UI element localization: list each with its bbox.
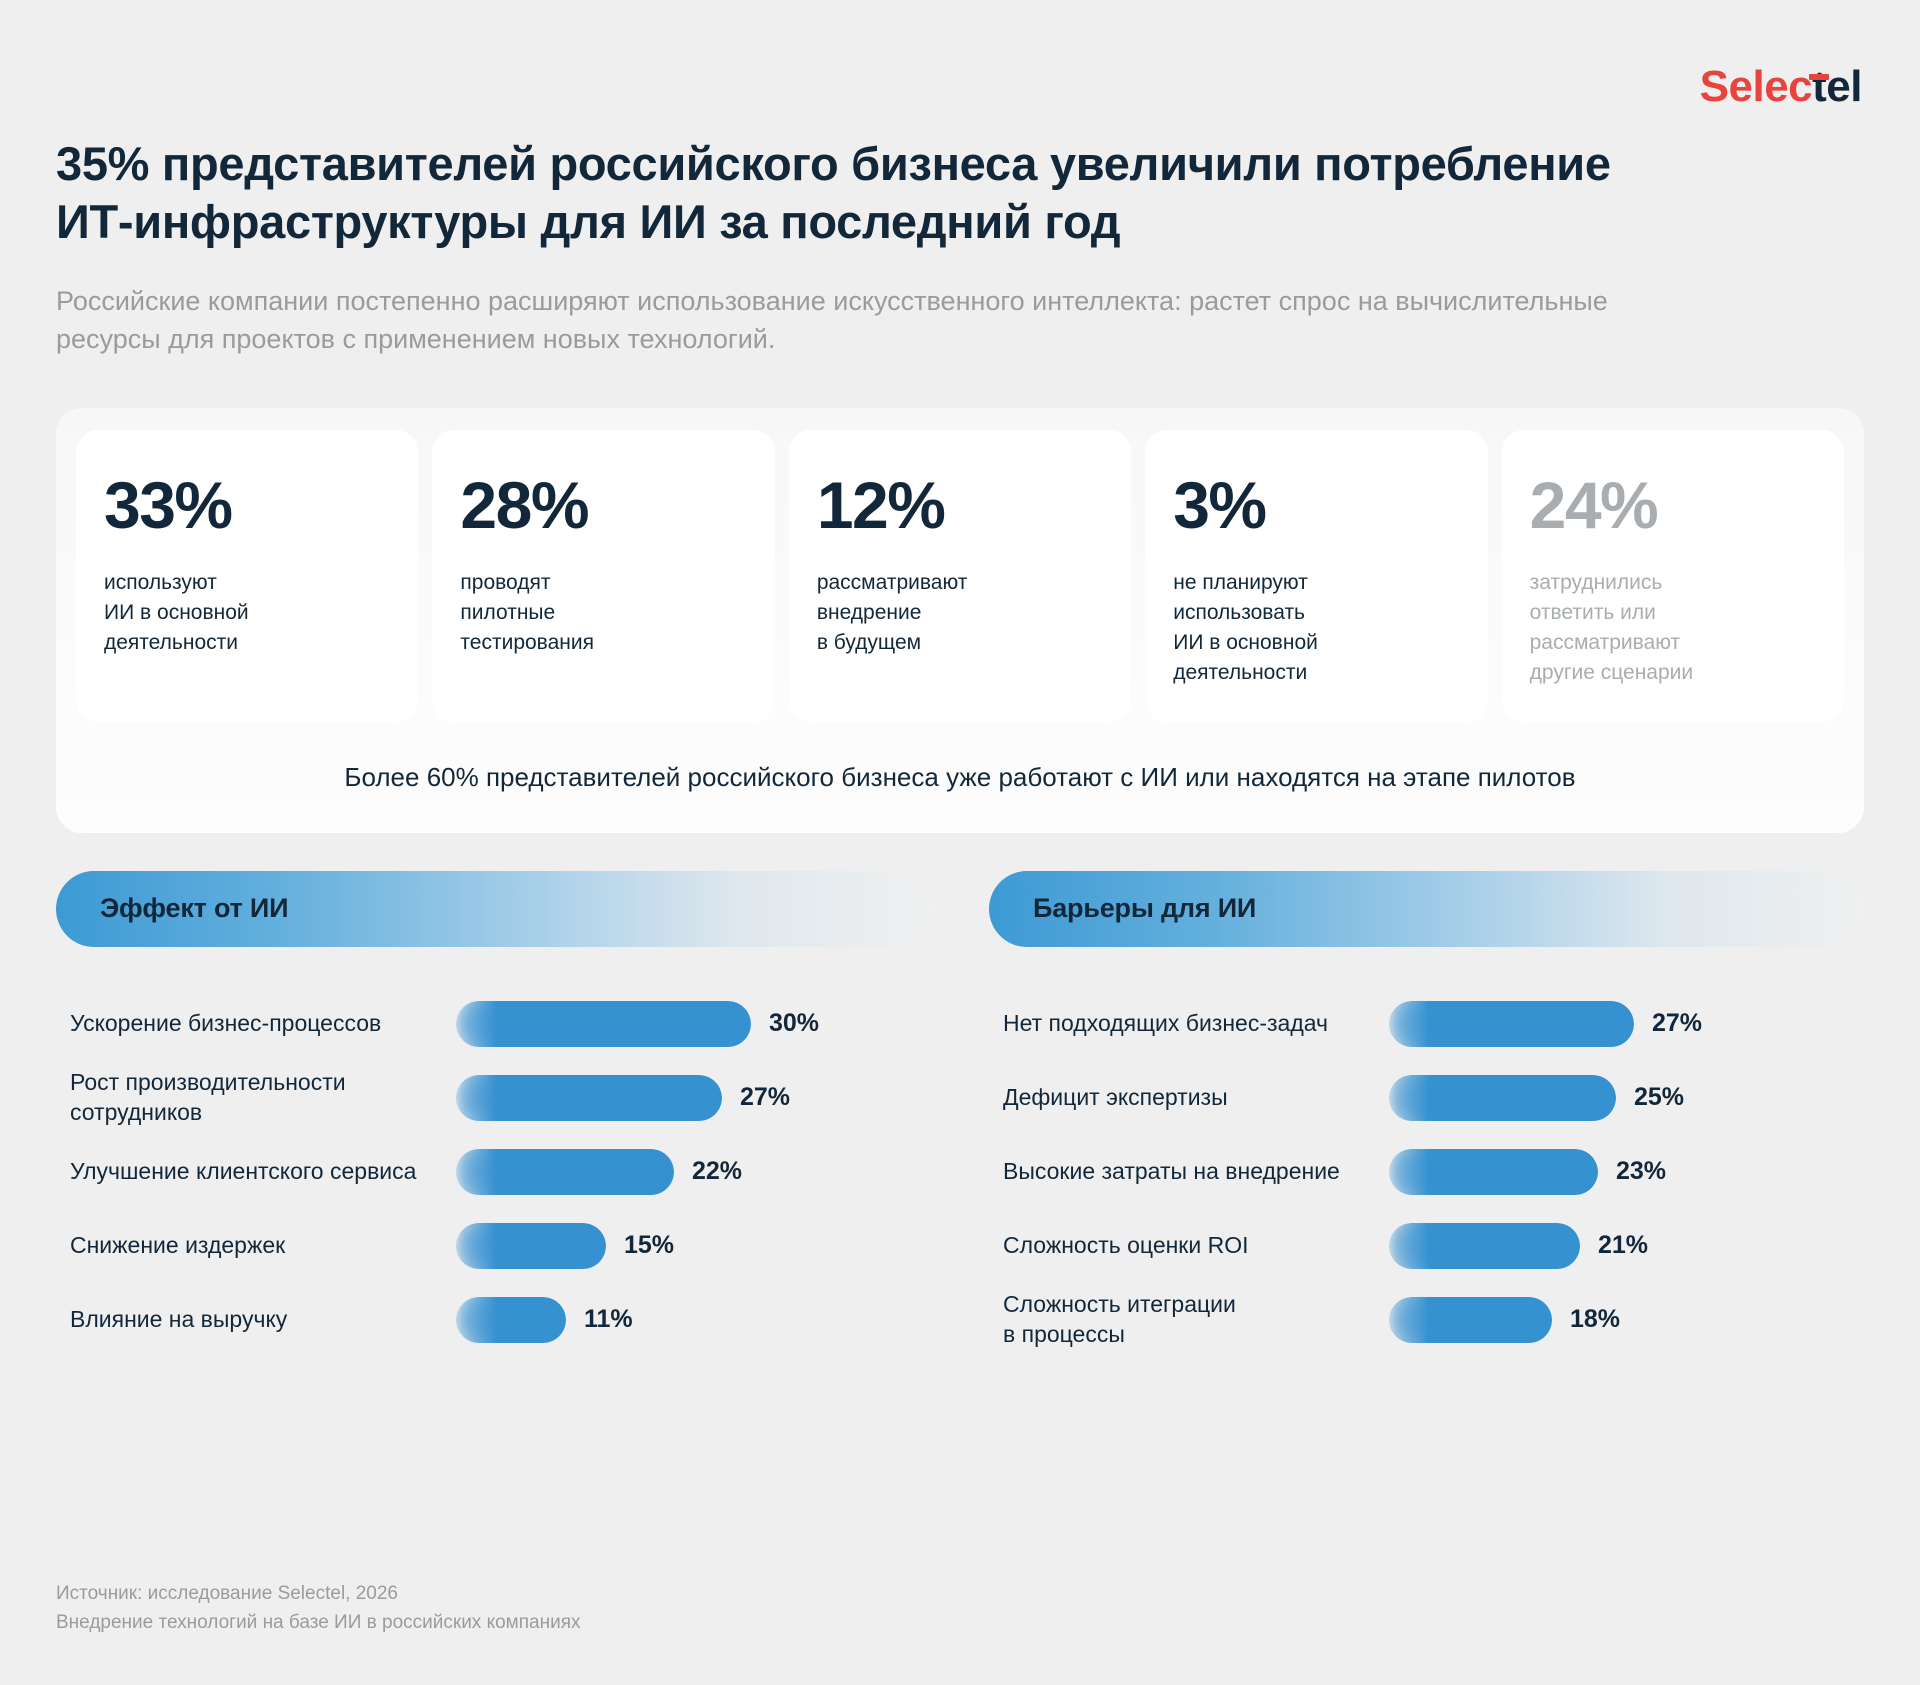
page-subtitle: Российские компании постепенно расширяют… [56,282,1616,359]
logo-wordmark: Selectel [1700,65,1862,109]
bar-row: Ускорение бизнес-процессов 30% [56,987,931,1061]
bar-track: 21% [1389,1223,1864,1269]
bar-value: 22% [692,1157,742,1186]
bar-row: Сложность оценки ROI 21% [989,1209,1864,1283]
bar-track: 30% [456,1001,931,1047]
bar-row: Рост производительности сотрудников 27% [56,1061,931,1135]
stat-card-row: 33% используют ИИ в основной деятельност… [76,430,1844,721]
source-line-2: Внедрение технологий на базе ИИ в россий… [56,1608,581,1637]
bar-track: 15% [456,1223,931,1269]
infographic-page: Selectel 35% представителей российского … [0,31,1920,1685]
bar-track: 23% [1389,1149,1864,1195]
source-line-1: Источник: исследование Selectel, 2026 [56,1579,581,1608]
stat-value: 3% [1173,472,1459,538]
bar-list: Нет подходящих бизнес-задач 27% Дефицит … [989,987,1864,1357]
bar-fill [1389,1001,1634,1047]
chart-header-pill: Барьеры для ИИ [989,871,1864,947]
stat-value: 33% [104,472,390,538]
selectel-logo: Selectel [1700,65,1862,109]
bar-row: Нет подходящих бизнес-задач 27% [989,987,1864,1061]
stat-card: 28% проводят пилотные тестирования [432,430,774,721]
stat-card: 3% не планируют использовать ИИ в основн… [1145,430,1487,721]
bar-fill [1389,1075,1616,1121]
bar-list: Ускорение бизнес-процессов 30% Рост прои… [56,987,931,1357]
stat-label: затруднились ответить или рассматривают … [1530,568,1816,687]
bar-value: 30% [769,1009,819,1038]
bar-value: 25% [1634,1083,1684,1112]
chart-header-pill: Эффект от ИИ [56,871,931,947]
bar-value: 27% [740,1083,790,1112]
chart-title: Барьеры для ИИ [1033,893,1256,924]
bar-fill [1389,1223,1580,1269]
bar-track: 27% [456,1075,931,1121]
logo-s-letter: Selec [1700,62,1812,111]
stats-panel: 33% используют ИИ в основной деятельност… [56,408,1864,832]
bar-track: 22% [456,1149,931,1195]
bar-label: Дефицит экспертизы [989,1083,1389,1113]
bar-label: Улучшение клиентского сервиса [56,1157,456,1187]
stat-label: не планируют использовать ИИ в основной … [1173,568,1459,687]
bar-label: Нет подходящих бизнес-задач [989,1009,1389,1039]
stat-value: 28% [460,472,746,538]
bar-value: 21% [1598,1231,1648,1260]
bar-label: Высокие затраты на внедрение [989,1157,1389,1187]
bar-row: Высокие затраты на внедрение 23% [989,1135,1864,1209]
bar-fill [1389,1297,1552,1343]
stat-card-muted: 24% затруднились ответить или рассматрив… [1502,430,1844,721]
bar-fill [456,1149,674,1195]
stats-summary-text: Более 60% представителей российского биз… [76,748,1844,815]
logo-t-letter: t [1812,65,1826,109]
bar-value: 27% [1652,1009,1702,1038]
bar-fill [456,1075,722,1121]
bar-value: 18% [1570,1305,1620,1334]
bar-fill [1389,1149,1598,1195]
page-title: 35% представителей российского бизнеса у… [56,31,1616,250]
bar-value: 15% [624,1231,674,1260]
bar-label: Рост производительности сотрудников [56,1068,456,1128]
chart-effects: Эффект от ИИ Ускорение бизнес-процессов … [56,871,931,1357]
chart-title: Эффект от ИИ [100,893,288,924]
bar-fill [456,1001,751,1047]
stat-value: 24% [1530,472,1816,538]
bar-value: 23% [1616,1157,1666,1186]
stat-label: проводят пилотные тестирования [460,568,746,657]
bar-row: Сложность итеграции в процессы 18% [989,1283,1864,1357]
stat-value: 12% [817,472,1103,538]
stat-card: 12% рассматривают внедрение в будущем [789,430,1131,721]
bar-track: 25% [1389,1075,1864,1121]
bar-label: Влияние на выручку [56,1305,456,1335]
bar-row: Улучшение клиентского сервиса 22% [56,1135,931,1209]
bar-label: Сложность оценки ROI [989,1231,1389,1261]
bar-fill [456,1297,566,1343]
bar-label: Сложность итеграции в процессы [989,1290,1389,1350]
bar-row: Влияние на выручку 11% [56,1283,931,1357]
bar-fill [456,1223,606,1269]
stat-label: используют ИИ в основной деятельности [104,568,390,657]
bar-label: Снижение издержек [56,1231,456,1261]
chart-barriers: Барьеры для ИИ Нет подходящих бизнес-зад… [989,871,1864,1357]
stat-label: рассматривают внедрение в будущем [817,568,1103,657]
bar-row: Снижение издержек 15% [56,1209,931,1283]
bar-track: 11% [456,1297,931,1343]
stat-card: 33% используют ИИ в основной деятельност… [76,430,418,721]
bar-label: Ускорение бизнес-процессов [56,1009,456,1039]
logo-t-crossbar-icon [1809,74,1829,80]
bar-track: 27% [1389,1001,1864,1047]
charts-section: Эффект от ИИ Ускорение бизнес-процессов … [56,871,1864,1357]
bar-value: 11% [584,1305,633,1334]
source-footer: Источник: исследование Selectel, 2026 Вн… [56,1579,581,1638]
bar-row: Дефицит экспертизы 25% [989,1061,1864,1135]
bar-track: 18% [1389,1297,1864,1343]
logo-tail: el [1826,62,1862,111]
